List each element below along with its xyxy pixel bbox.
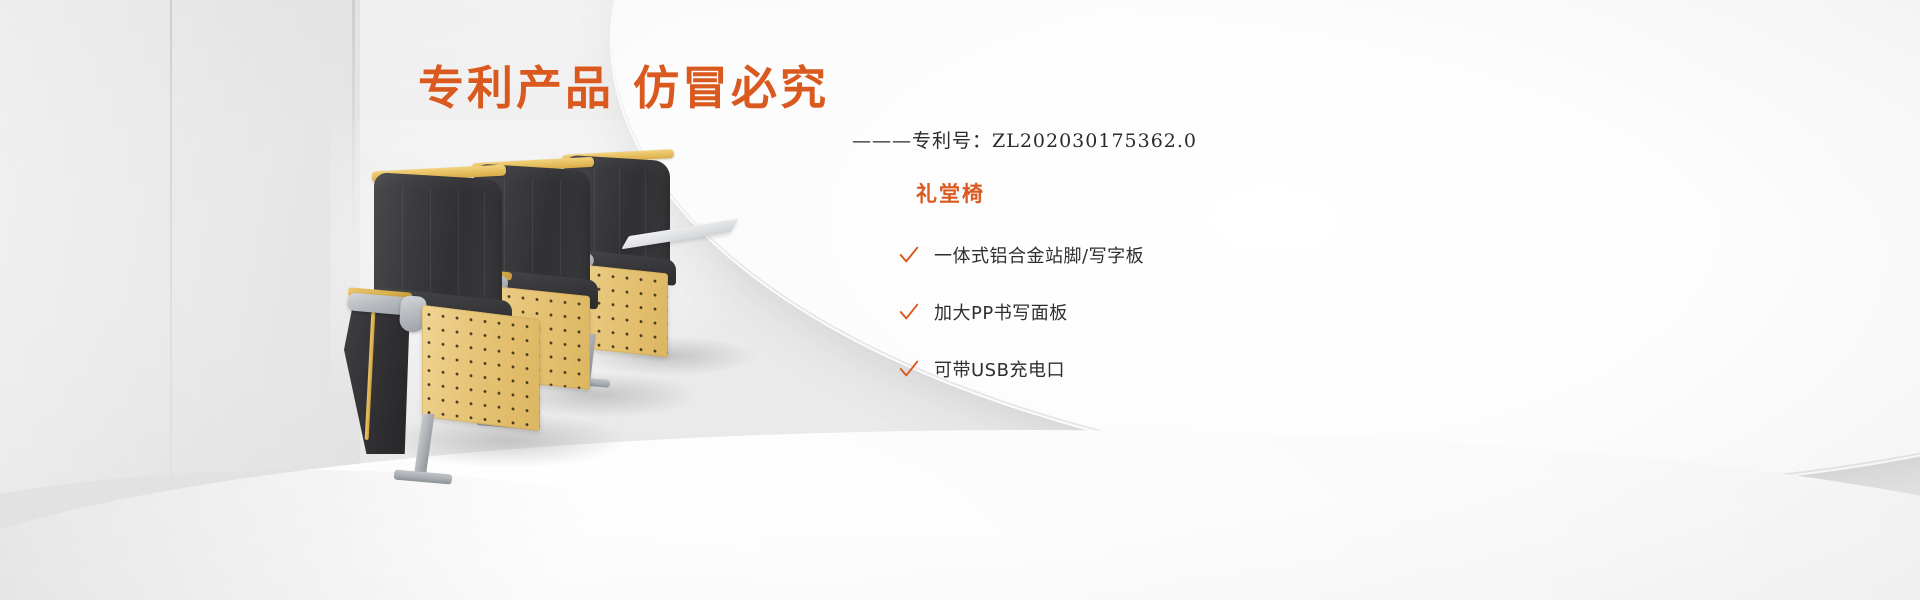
feature-label: 一体式铝合金站脚/写字板 — [934, 242, 1144, 268]
chair-seat-1 — [366, 162, 576, 482]
chair1-perforated-back-panel — [422, 305, 540, 431]
check-mark-icon — [898, 358, 920, 380]
check-mark-icon — [898, 244, 920, 266]
product-banner: 专利产品 仿冒必究 ———专利号：ZL202030175362.0 — [0, 0, 1920, 600]
check-mark-icon — [898, 301, 920, 323]
feature-list-panel: 礼堂椅 一体式铝合金站脚/写字板 加大PP书写面板 可带USB充电口 — [898, 178, 1418, 413]
auditorium-chair-row — [330, 140, 760, 480]
feature-item: 一体式铝合金站脚/写字板 — [898, 242, 1418, 268]
feature-item: 加大PP书写面板 — [898, 299, 1418, 325]
chair1-leg — [414, 414, 435, 478]
feature-item: 可带USB充电口 — [898, 356, 1418, 382]
page-title: 专利产品 仿冒必究 — [418, 52, 829, 118]
feature-label: 可带USB充电口 — [934, 356, 1065, 382]
patent-number-text: ———专利号：ZL202030175362.0 — [852, 126, 1197, 153]
feature-label: 加大PP书写面板 — [934, 299, 1068, 325]
product-category-title: 礼堂椅 — [916, 178, 1418, 208]
